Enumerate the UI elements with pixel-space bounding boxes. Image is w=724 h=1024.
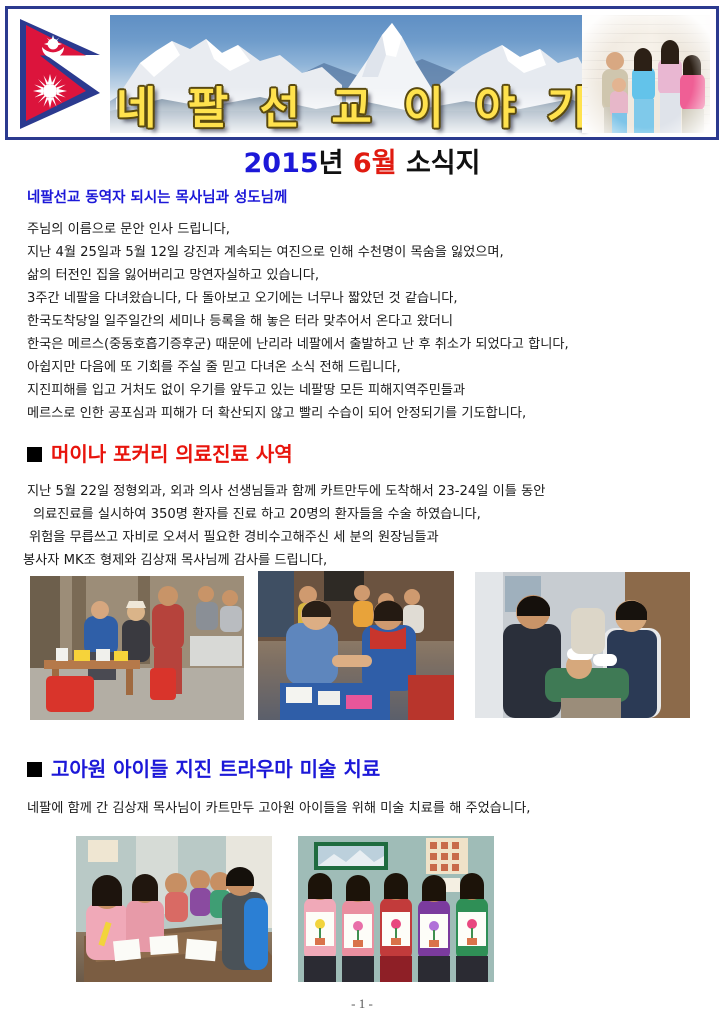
medical-photo-3 xyxy=(475,572,690,718)
greeting-line: 지난 4월 25일과 5월 12일 강진과 계속되는 여진으로 인해 수천명이 … xyxy=(27,241,569,264)
banner-title: 네 팔 선 교 이 야 기 xyxy=(116,83,586,135)
missionary-family-photo xyxy=(582,15,710,133)
page-number: - 1 - xyxy=(0,996,724,1012)
greeting-line: 아쉽지만 다음에 또 기회를 주실 줄 믿고 다녀온 소식 전해 드립니다, xyxy=(27,356,569,379)
medical-text-block: 지난 5월 22일 정형외과, 외과 의사 선생님들과 함께 카트만두에 도착해… xyxy=(27,480,545,572)
section-heading-medical: 머이나 포커리 의료진료 사역 xyxy=(27,442,293,466)
art-therapy-table-photo xyxy=(76,836,272,982)
section-heading-art-label: 고아원 아이들 지진 트라우마 미술 치료 xyxy=(51,757,380,781)
art-line: 네팔에 함께 간 김상재 목사님이 카트만두 고아원 아이들을 위해 미술 치료… xyxy=(27,797,530,820)
greeting-line: 메르스로 인한 공포심과 피해가 더 확산되지 않고 빨리 수습이 되어 안정되… xyxy=(27,402,569,425)
banner-inner: 네 팔 선 교 이 야 기 xyxy=(10,11,714,135)
medical-photo-2 xyxy=(258,571,454,720)
square-bullet-icon xyxy=(27,762,42,777)
dateline: 2015년 6월 소식지 xyxy=(0,147,724,181)
section-heading-medical-label: 머이나 포커리 의료진료 사역 xyxy=(51,442,293,466)
greeting-line: 한국은 메르스(중동호흡기증후군) 때문에 난리라 네팔에서 출발하고 난 후 … xyxy=(27,333,569,356)
square-bullet-icon xyxy=(27,447,42,462)
family-photo-vignette xyxy=(582,15,710,133)
greeting-line: 지진피해를 입고 거처도 없이 우기를 앞두고 있는 네팔땅 모든 피해지역주민… xyxy=(27,379,569,402)
section-heading-art: 고아원 아이들 지진 트라우마 미술 치료 xyxy=(27,757,380,781)
dateline-month: 6월 xyxy=(353,148,397,179)
nepal-flag-icon xyxy=(16,15,108,133)
header-banner: 네 팔 선 교 이 야 기 xyxy=(5,6,719,140)
greeting-block: 네팔선교 동역자 되시는 목사님과 성도님께 주님의 이름으로 문안 인사 드립… xyxy=(27,186,569,425)
doctor-treating-patient-photo xyxy=(258,571,454,720)
medical-photo-1 xyxy=(30,576,244,720)
children-holding-drawings-photo xyxy=(298,836,494,982)
medical-line: 지난 5월 22일 정형외과, 외과 의사 선생님들과 함께 카트만두에 도착해… xyxy=(27,480,545,503)
dateline-year: 2015 xyxy=(244,148,319,179)
greeting-line: 한국도착당일 일주일간의 세미나 등록을 해 놓은 터라 맞추어서 온다고 왔더… xyxy=(27,310,569,333)
greeting-line: 주님의 이름으로 문안 인사 드립니다, xyxy=(27,218,569,241)
medical-line: 의료진료를 실시하여 350명 환자를 진료 하고 20명의 환자들을 수술 하… xyxy=(33,503,545,526)
medical-line: 위험을 무릅쓰고 자비로 오셔서 필요한 경비수고해주신 세 분의 원장님들과 xyxy=(29,526,545,549)
dateline-year-suffix: 년 xyxy=(319,148,344,179)
greeting-salutation: 네팔선교 동역자 되시는 목사님과 성도님께 xyxy=(27,186,569,210)
greeting-line: 3주간 네팔을 다녀왔습니다, 다 돌아보고 오기에는 너무나 짧았던 것 같습… xyxy=(27,287,569,310)
medical-line: 봉사자 MK조 형제와 김상재 목사님께 감사를 드립니다, xyxy=(23,549,545,572)
outdoor-clinic-photo xyxy=(30,576,244,720)
art-text-block: 네팔에 함께 간 김상재 목사님이 카트만두 고아원 아이들을 위해 미술 치료… xyxy=(27,797,530,820)
art-photo-2 xyxy=(298,836,494,982)
art-photo-1 xyxy=(76,836,272,982)
surgery-procedure-photo xyxy=(475,572,690,718)
greeting-line: 삶의 터전인 집을 잃어버리고 망연자실하고 있습니다, xyxy=(27,264,569,287)
dateline-tail: 소식지 xyxy=(406,148,481,179)
